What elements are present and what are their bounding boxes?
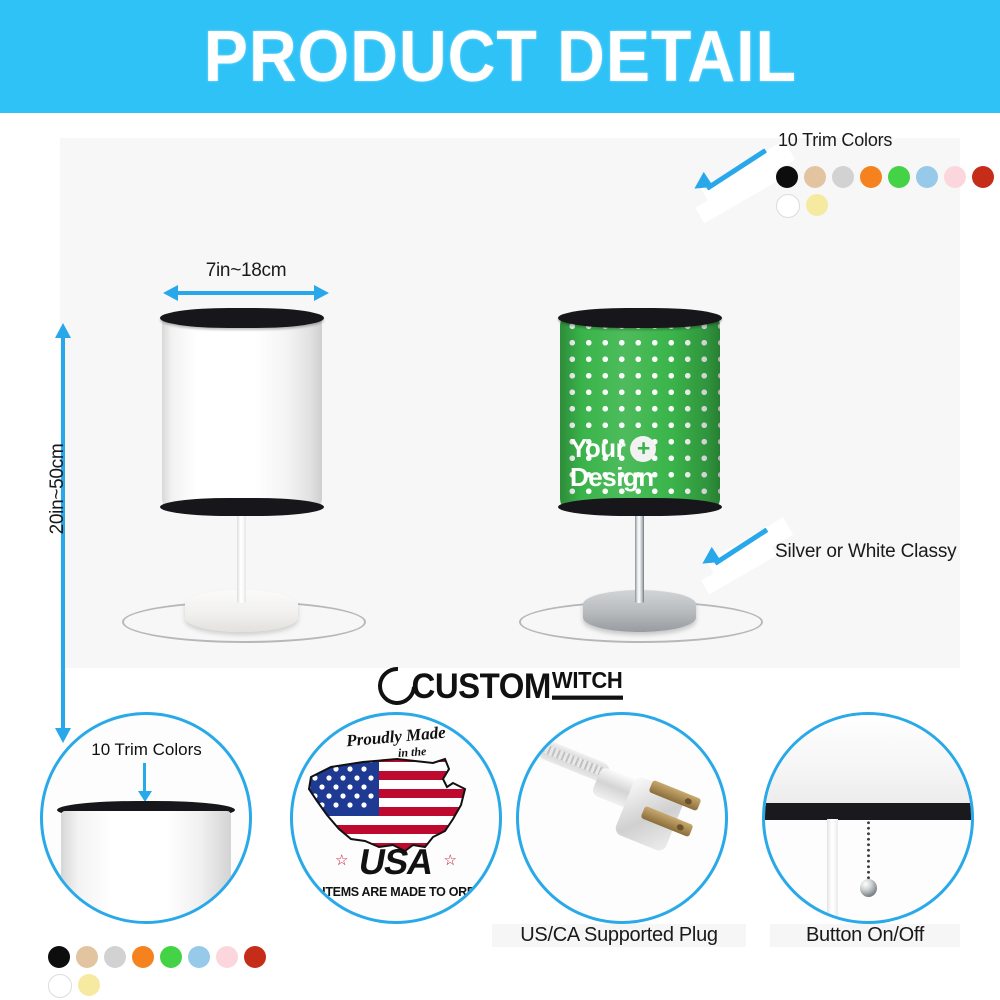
feature-circle: [516, 712, 728, 924]
shade-trim-top: [558, 308, 722, 328]
swatch-black[interactable]: [48, 946, 70, 968]
star-left-icon: ☆: [335, 851, 348, 869]
product-detail-page: PRODUCT DETAIL 7in~18cm 20in~50cm: [0, 0, 1000, 1000]
plus-icon: +: [630, 436, 656, 462]
swatch-light-blue[interactable]: [916, 166, 938, 188]
shade-body-closeup: [61, 811, 231, 924]
pull-knob-icon[interactable]: [860, 879, 877, 897]
dimension-line: [177, 291, 315, 295]
arrow-right-icon: [314, 285, 329, 301]
chain-beads-icon: [867, 820, 870, 882]
power-plug-icon: [537, 745, 707, 855]
shade-trim-bottom: [558, 498, 722, 516]
width-dimension-callout: 7in~18cm: [163, 264, 329, 294]
swatch-pink[interactable]: [216, 946, 238, 968]
brand-logo: CUSTOM WITCH: [0, 665, 1000, 707]
shade-body: [162, 316, 322, 508]
logo-primary-text: CUSTOM: [412, 665, 551, 706]
feature-circle: [762, 712, 974, 924]
feature-circle: Proudly Made in the: [290, 712, 502, 924]
swatch-gray[interactable]: [104, 946, 126, 968]
shade-body: Your + Design: [560, 316, 720, 508]
feature-trim-colors-label: 10 Trim Colors: [59, 740, 234, 760]
feature-switch-caption: Button On/Off: [770, 924, 960, 947]
swatch-row: [48, 946, 272, 998]
height-dimension-label: 20in~50cm: [47, 389, 69, 589]
usa-badge: Proudly Made in the: [293, 715, 499, 921]
shade-trim-bottom: [160, 498, 324, 516]
swatch-pink[interactable]: [944, 166, 966, 188]
arrow-up-icon: [55, 323, 71, 338]
trim-colors-swatch-row-top: [776, 166, 1000, 218]
trim-colors-swatch-row-bottom: [48, 946, 272, 998]
your-design-placeholder: Your + Design: [570, 434, 712, 492]
swatch-white[interactable]: [776, 194, 800, 218]
swatch-yellow[interactable]: [806, 194, 828, 216]
swatch-gray[interactable]: [832, 166, 854, 188]
swatch-green[interactable]: [888, 166, 910, 188]
lamp-shade-green: Your + Design: [560, 308, 720, 513]
logo-secondary-text: WITCH: [552, 667, 623, 700]
swatch-tan[interactable]: [76, 946, 98, 968]
swatch-orange[interactable]: [860, 166, 882, 188]
star-right-icon: ☆: [444, 851, 457, 869]
arrow-left-icon: [163, 285, 178, 301]
swatch-tan[interactable]: [804, 166, 826, 188]
usa-subtitle: ALL ITEMS ARE MADE TO ORDER!: [293, 885, 499, 899]
feature-circle: 10 Trim Colors: [40, 712, 252, 924]
swatch-white[interactable]: [48, 974, 72, 998]
width-dimension-label: 7in~18cm: [163, 260, 329, 282]
swatch-light-blue[interactable]: [188, 946, 210, 968]
down-arrow-line: [143, 763, 146, 793]
swatch-green[interactable]: [160, 946, 182, 968]
usa-text: USA: [356, 841, 436, 883]
page-title: PRODUCT DETAIL: [203, 21, 796, 93]
design-line-2: Design: [570, 463, 712, 492]
lamp-pole-closeup: [827, 819, 838, 924]
swatch-red[interactable]: [244, 946, 266, 968]
swatch-orange[interactable]: [132, 946, 154, 968]
shade-trim-top: [160, 308, 324, 328]
usa-made-text: Proudly Made: [345, 723, 446, 752]
page-header-banner: PRODUCT DETAIL: [0, 0, 1000, 113]
swatch-black[interactable]: [776, 166, 798, 188]
shade-trim-closeup: [762, 803, 973, 820]
swatch-red[interactable]: [972, 166, 994, 188]
design-line-1: Your: [570, 434, 625, 463]
swatch-yellow[interactable]: [78, 974, 100, 996]
trim-colors-label-top: 10 Trim Colors: [778, 130, 892, 151]
swatch-row: [776, 166, 1000, 218]
feature-plug-caption: US/CA Supported Plug: [492, 924, 746, 947]
lamp-shade-white: [162, 308, 322, 513]
base-finish-label: Silver or White Classy: [775, 541, 956, 563]
shade-closeup: [762, 712, 971, 803]
